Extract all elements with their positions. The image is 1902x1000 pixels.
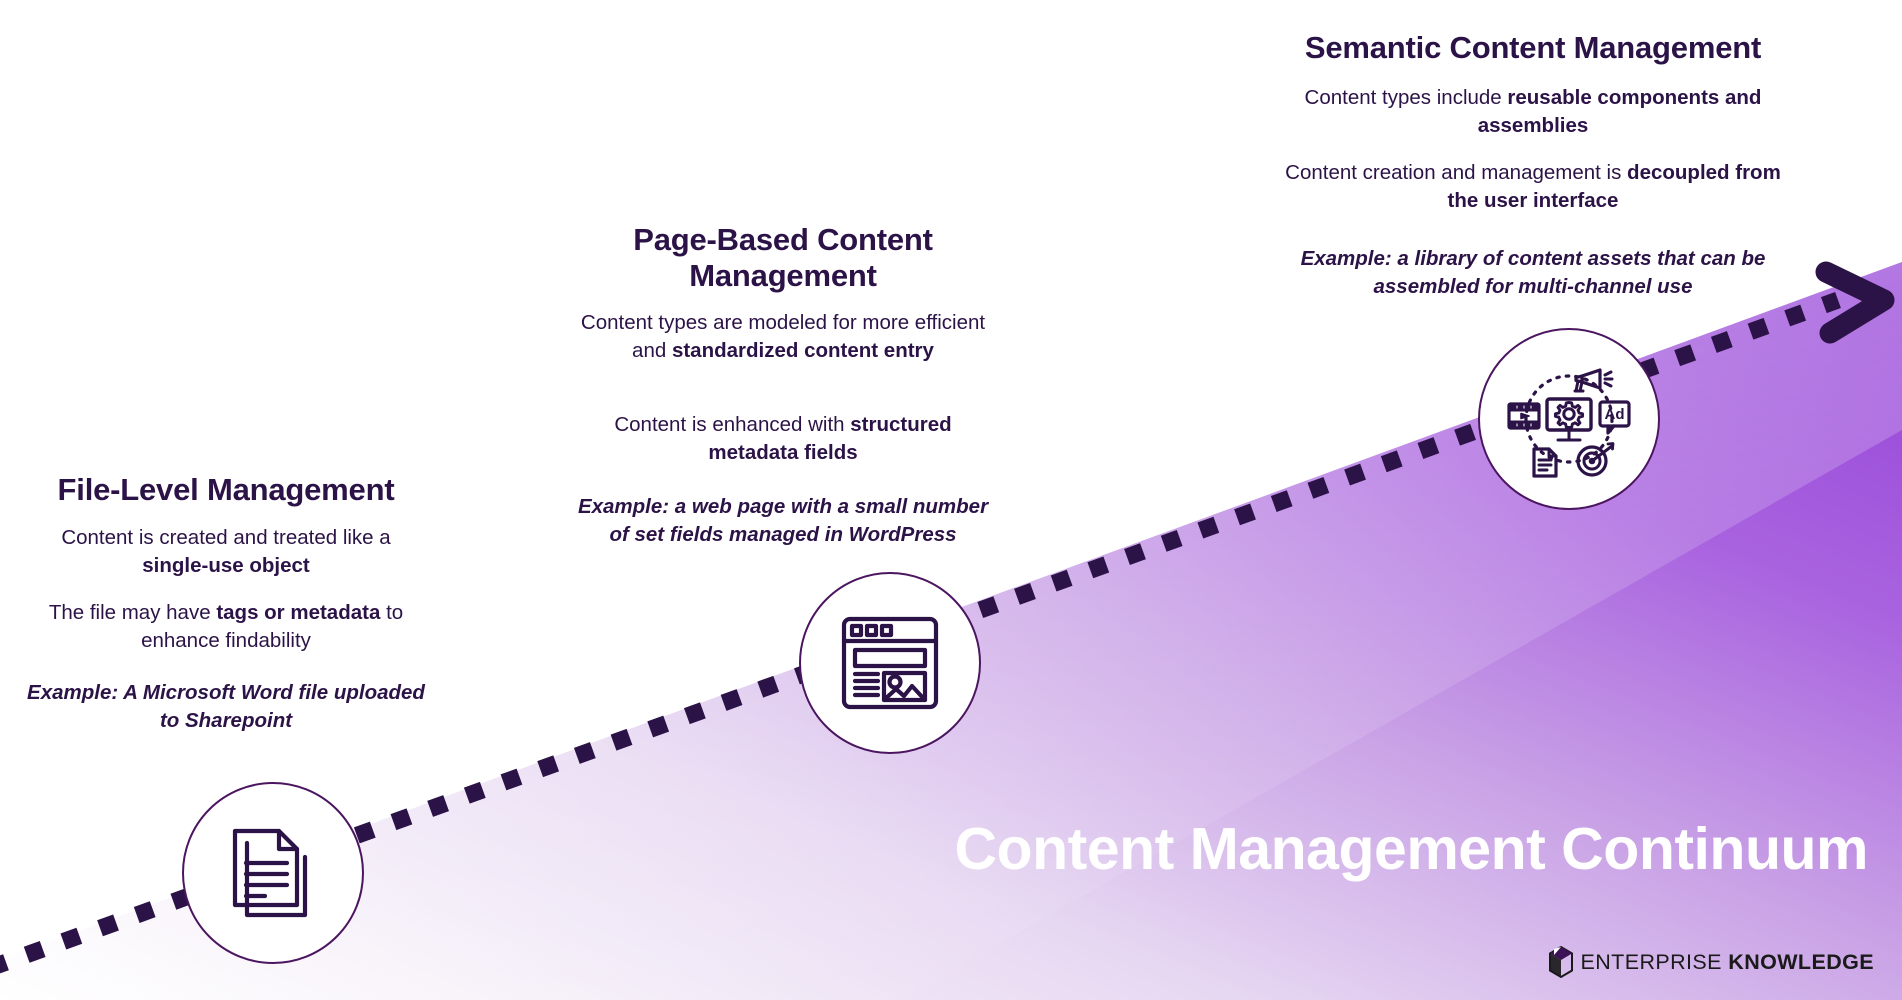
main-headline: Content Management Continuum — [748, 820, 1868, 879]
brand-word-knowledge: KNOWLEDGE — [1728, 950, 1874, 974]
hexagon-mark-icon — [1548, 946, 1574, 978]
svg-text:Ad: Ad — [1605, 406, 1625, 423]
bullet-text-bold: standardized content entry — [672, 339, 934, 362]
bullet-text-plain: Content is created and treated like a — [61, 526, 390, 549]
stage-bullet: The file may have tags or metadata to en… — [26, 599, 426, 655]
stage-text-page-based: Page-Based Content Management Content ty… — [568, 222, 998, 549]
bullet-text-plain: Content types include — [1305, 86, 1508, 109]
stage-text-file-level: File-Level Management Content is created… — [26, 472, 426, 735]
stage-example-file-level: Example: A Microsoft Word file uploaded … — [26, 679, 426, 735]
stage-title-file-level: File-Level Management — [26, 472, 426, 508]
bullet-text-plain: Content creation and management is — [1285, 161, 1627, 184]
stage-bullet: Content is enhanced with structured meta… — [568, 411, 998, 467]
bullet-text-plain: The file may have — [49, 601, 217, 624]
stage-title-semantic: Semantic Content Management — [1268, 30, 1798, 66]
bullet-text-bold: reusable components and assemblies — [1478, 86, 1762, 137]
bullet-text-plain: Content is enhanced with — [614, 413, 850, 436]
infographic-canvas: Ad File-Level Management Content is crea… — [0, 0, 1902, 1000]
stage-title-page-based: Page-Based Content Management — [568, 222, 998, 293]
stage-example-semantic: Example: a library of content assets tha… — [1268, 245, 1798, 301]
brand-logo[interactable]: ENTERPRISE KNOWLEDGE — [1548, 946, 1875, 978]
bullet-text-bold: single-use object — [142, 554, 309, 577]
web-page-icon — [836, 609, 944, 717]
multichannel-content-icon: Ad — [1504, 354, 1634, 484]
stage-node-page-based[interactable] — [799, 572, 981, 754]
stage-bullet: Content creation and management is decou… — [1268, 159, 1798, 215]
brand-word-enterprise: ENTERPRISE — [1581, 950, 1722, 974]
bullet-text-bold: tags or metadata — [216, 601, 380, 624]
stage-node-file-level[interactable] — [182, 782, 364, 964]
stage-bullet: Content types include reusable component… — [1268, 84, 1798, 140]
stage-bullet: Content is created and treated like a si… — [26, 524, 426, 580]
brand-logo-text: ENTERPRISE KNOWLEDGE — [1581, 950, 1875, 975]
document-stack-icon — [221, 821, 325, 925]
stage-text-semantic: Semantic Content Management Content type… — [1268, 30, 1798, 301]
stage-node-semantic[interactable]: Ad — [1478, 328, 1660, 510]
stage-example-page-based: Example: a web page with a small number … — [568, 493, 998, 549]
stage-bullet: Content types are modeled for more effic… — [568, 309, 998, 365]
